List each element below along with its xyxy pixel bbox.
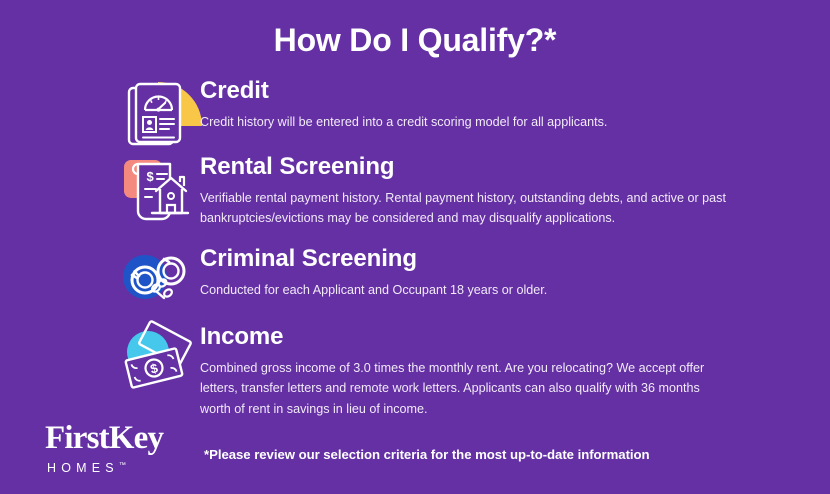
section-criminal-text: Criminal Screening Conducted for each Ap…: [200, 244, 808, 300]
footnote-text: *Please review our selection criteria fo…: [204, 447, 650, 462]
section-income: $ Income Combined gross income of 3.0 ti…: [108, 322, 808, 419]
section-income-body: Combined gross income of 3.0 times the m…: [200, 358, 730, 419]
section-rental-body: Verifiable rental payment history. Renta…: [200, 188, 730, 229]
logo-subtitle: HOMES™: [47, 461, 200, 475]
section-credit-heading: Credit: [200, 78, 808, 105]
banknotes-dollar-icon: $: [108, 322, 200, 396]
handcuffs-icon: [108, 244, 200, 312]
logo-wordmark: FirstKey: [45, 422, 200, 455]
section-rental-screening: $ Rental Screening Verifiable rental pay…: [108, 152, 808, 229]
logo-subtitle-text: HOMES: [47, 461, 119, 475]
section-criminal-screening: Criminal Screening Conducted for each Ap…: [108, 244, 808, 312]
section-criminal-heading: Criminal Screening: [200, 246, 808, 273]
section-rental-text: Rental Screening Verifiable rental payme…: [200, 152, 808, 229]
trademark-symbol: ™: [119, 462, 126, 469]
credit-report-gauge-icon: [108, 76, 200, 148]
section-credit-text: Credit Credit history will be entered in…: [200, 76, 808, 132]
section-income-heading: Income: [200, 324, 808, 351]
svg-text:$: $: [147, 169, 155, 184]
section-rental-heading: Rental Screening: [200, 154, 808, 181]
rental-invoice-house-icon: $: [108, 152, 200, 226]
section-income-text: Income Combined gross income of 3.0 time…: [200, 322, 808, 419]
qualify-slide: How Do I Qualify?*: [0, 0, 830, 494]
section-credit-body: Credit history will be entered into a cr…: [200, 112, 730, 132]
section-credit: Credit Credit history will be entered in…: [108, 76, 808, 148]
section-criminal-body: Conducted for each Applicant and Occupan…: [200, 280, 730, 300]
firstkey-homes-logo: FirstKey HOMES™: [45, 422, 200, 475]
page-title: How Do I Qualify?*: [0, 22, 830, 59]
